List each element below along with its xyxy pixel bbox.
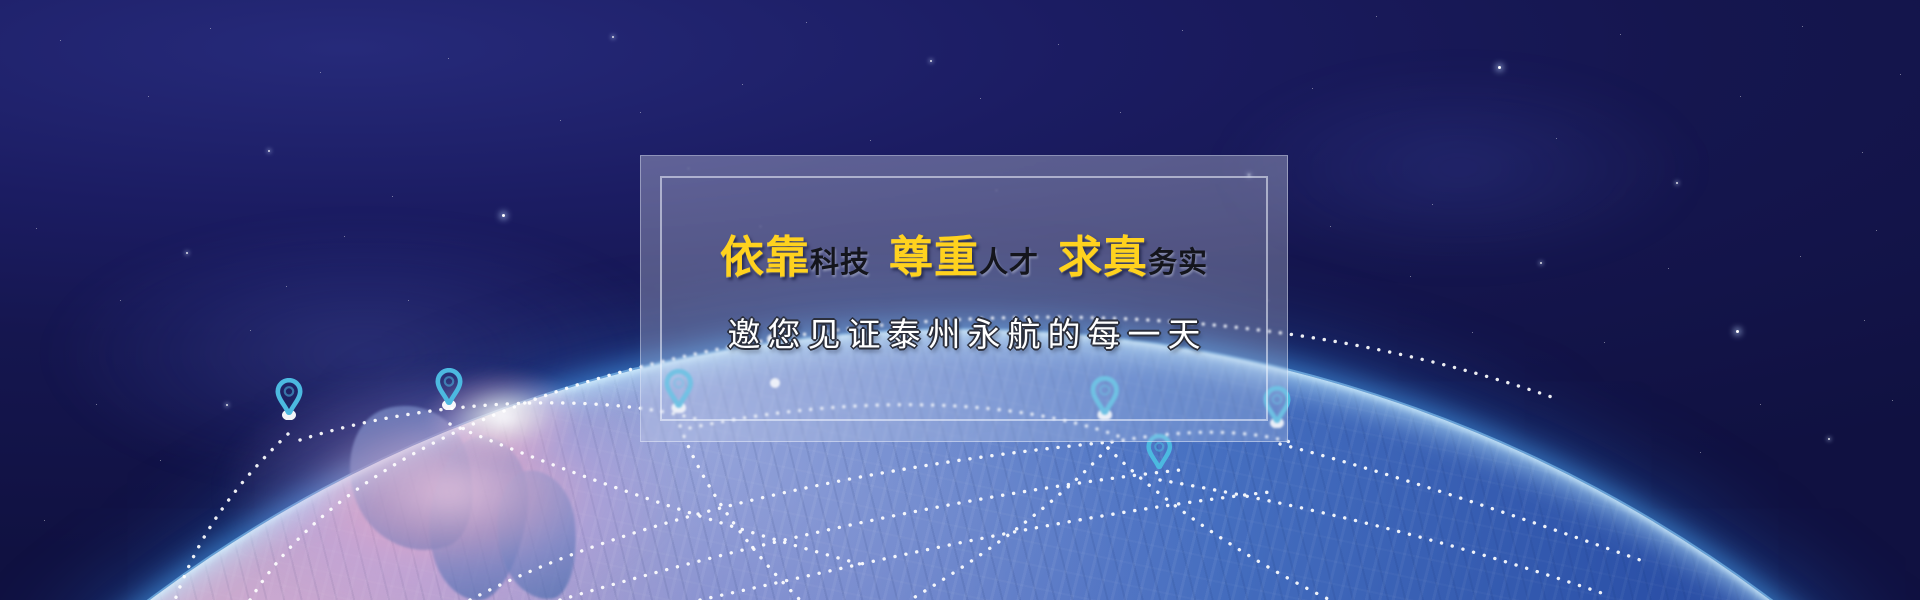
slogan-run-2: 科技: [810, 245, 870, 279]
slogan-run-5: 求真: [1058, 232, 1148, 283]
pin-north-america-east-icon: [434, 368, 464, 410]
slogan-panel: 依靠科技尊重人才求真务实 邀您见证泰州永航的每一天: [640, 155, 1288, 442]
slogan-line-primary: 依靠科技尊重人才求真务实: [720, 236, 1208, 280]
slogan-run-6: 务实: [1148, 245, 1208, 279]
banner-root: 依靠科技尊重人才求真务实 邀您见证泰州永航的每一天: [0, 0, 1920, 600]
slogan-line-secondary: 邀您见证泰州永航的每一天: [728, 308, 1208, 356]
slogan-run-4: 人才: [979, 245, 1039, 279]
slogan-panel-content: 依靠科技尊重人才求真务实 邀您见证泰州永航的每一天: [641, 156, 1287, 441]
slogan-run-3: 尊重: [889, 232, 979, 283]
pin-north-america-west-icon: [274, 378, 304, 420]
slogan-run-1: 依靠: [720, 232, 810, 283]
